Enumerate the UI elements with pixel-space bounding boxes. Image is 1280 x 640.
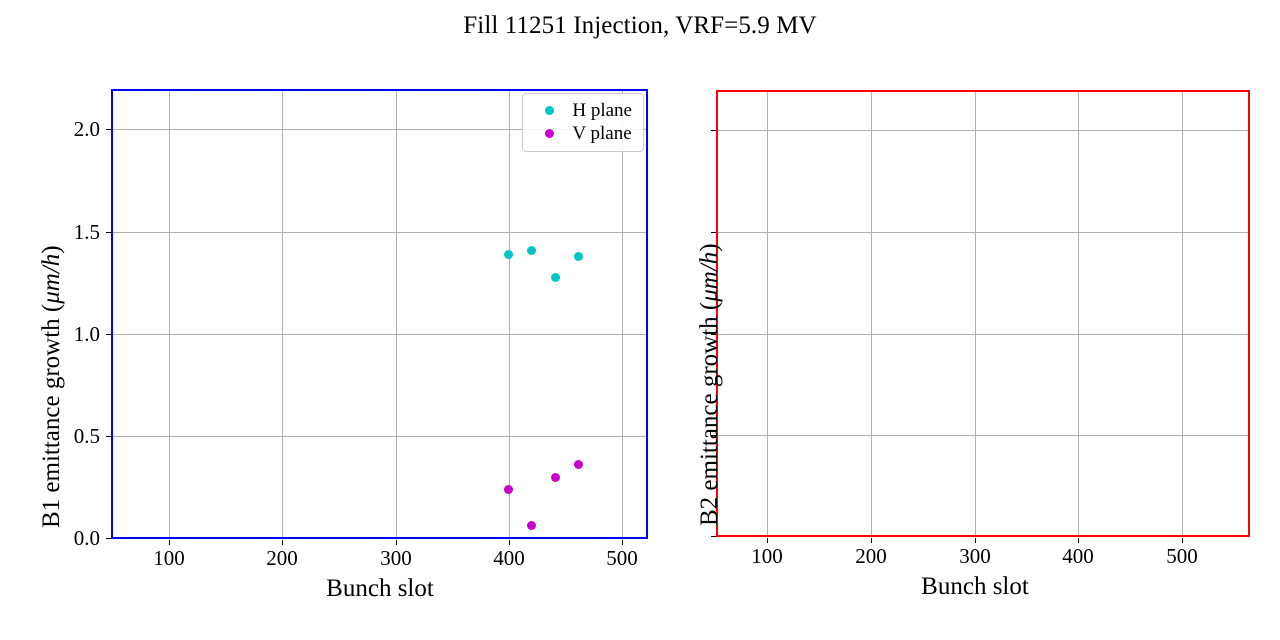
- legend-label: V plane: [566, 123, 633, 145]
- axes-b1: H plane V plane: [111, 89, 648, 539]
- tick-mark-y: [711, 130, 716, 131]
- gridline-x-400: [509, 89, 510, 539]
- tick-mark-x: [767, 538, 768, 543]
- axis-label-x-b2: Bunch slot: [875, 573, 1075, 601]
- gridline-x-100: [767, 90, 768, 537]
- tick-mark-x: [871, 538, 872, 543]
- tick-label-y: 2.0: [54, 119, 100, 140]
- axis-label-y-text: B2 emittance growth (: [696, 302, 723, 526]
- gridline-y-0-5: [716, 435, 1250, 436]
- tick-mark-x: [509, 540, 510, 545]
- gridline-x-300: [975, 90, 976, 537]
- tick-label-x: 300: [935, 546, 1015, 567]
- tick-label-y: 1.5: [54, 222, 100, 243]
- gridline-x-100: [169, 89, 170, 539]
- tick-mark-x: [169, 540, 170, 545]
- tick-mark-x: [282, 540, 283, 545]
- axis-spine-top-b2: [716, 90, 1250, 92]
- tick-mark-x: [1078, 538, 1079, 543]
- tick-label-x: 300: [356, 548, 436, 569]
- tick-mark-y: [106, 129, 111, 130]
- gridline-x-200: [871, 90, 872, 537]
- data-point-h-plane: [574, 252, 583, 261]
- gridline-x-500: [1182, 90, 1183, 537]
- tick-mark-y: [106, 538, 111, 539]
- tick-mark-x: [622, 540, 623, 545]
- tick-label-x: 500: [582, 548, 662, 569]
- data-point-v-plane: [574, 460, 583, 469]
- data-point-h-plane: [504, 250, 513, 259]
- axis-spine-bottom-b2: [716, 535, 1250, 537]
- tick-mark-y: [106, 334, 111, 335]
- axis-label-x-text: Bunch slot: [326, 575, 434, 602]
- axis-label-y-b2: B2 emittance growth (μm/h): [696, 243, 724, 526]
- tick-label-x: 500: [1142, 546, 1222, 567]
- axis-spine-left-b1: [111, 89, 113, 539]
- tick-label-x: 200: [831, 546, 911, 567]
- gridline-x-300: [396, 89, 397, 539]
- tick-label-y: 0.0: [54, 528, 100, 549]
- data-point-v-plane: [527, 521, 536, 530]
- tick-label-x: 400: [1038, 546, 1118, 567]
- axis-spine-top-b1: [111, 89, 648, 91]
- axis-label-y-b1: B1 emittance growth (μm/h): [38, 245, 66, 528]
- tick-mark-x: [975, 538, 976, 543]
- axis-label-y-units: μm/h: [696, 252, 723, 302]
- axis-label-y-units: μm/h: [38, 254, 65, 304]
- data-point-h-plane: [551, 273, 560, 282]
- axis-label-y-paren: ): [38, 245, 65, 253]
- tick-mark-x: [1182, 538, 1183, 543]
- tick-mark-y: [711, 232, 716, 233]
- tick-mark-y: [711, 536, 716, 537]
- tick-label-x: 200: [242, 548, 322, 569]
- axis-spine-right-b2: [1248, 90, 1250, 537]
- tick-mark-y: [106, 232, 111, 233]
- data-point-v-plane: [551, 473, 560, 482]
- gridline-x-400: [1078, 90, 1079, 537]
- axis-label-x-b1: Bunch slot: [280, 575, 480, 603]
- tick-mark-x: [396, 540, 397, 545]
- axis-label-x-text: Bunch slot: [921, 573, 1029, 600]
- gridline-y-1-5: [716, 232, 1250, 233]
- gridline-y-1-0: [716, 334, 1250, 335]
- legend-b1: H plane V plane: [522, 93, 644, 152]
- legend-marker-icon: [532, 129, 566, 138]
- gridline-y-1-0: [111, 334, 648, 335]
- data-point-h-plane: [527, 246, 536, 255]
- axis-label-y-text: B1 emittance growth (: [38, 304, 65, 528]
- axes-b2: [716, 90, 1250, 537]
- gridline-y-1-5: [111, 232, 648, 233]
- legend-entry-h-plane: H plane: [532, 99, 634, 122]
- legend-label: H plane: [566, 100, 634, 122]
- gridline-y-2-0: [716, 130, 1250, 131]
- tick-label-x: 100: [129, 548, 209, 569]
- panel-b2: 100 200 300 400 500 Bunch slot B2 emitta…: [660, 0, 1280, 640]
- legend-marker-icon: [532, 106, 566, 115]
- gridline-x-200: [282, 89, 283, 539]
- panel-b1: H plane V plane 2.0 1.5 1.0 0.5 0.0: [0, 0, 660, 640]
- axis-label-y-paren: ): [696, 243, 723, 251]
- gridline-y-0-5: [111, 436, 648, 437]
- tick-mark-y: [106, 436, 111, 437]
- axis-spine-bottom-b1: [111, 537, 648, 539]
- figure-canvas: Fill 11251 Injection, VRF=5.9 MV: [0, 0, 1280, 640]
- legend-entry-v-plane: V plane: [532, 122, 634, 145]
- axis-spine-right-b1: [646, 89, 648, 539]
- gridline-x-500: [622, 89, 623, 539]
- tick-label-x: 400: [469, 548, 549, 569]
- tick-label-x: 100: [727, 546, 807, 567]
- data-point-v-plane: [504, 485, 513, 494]
